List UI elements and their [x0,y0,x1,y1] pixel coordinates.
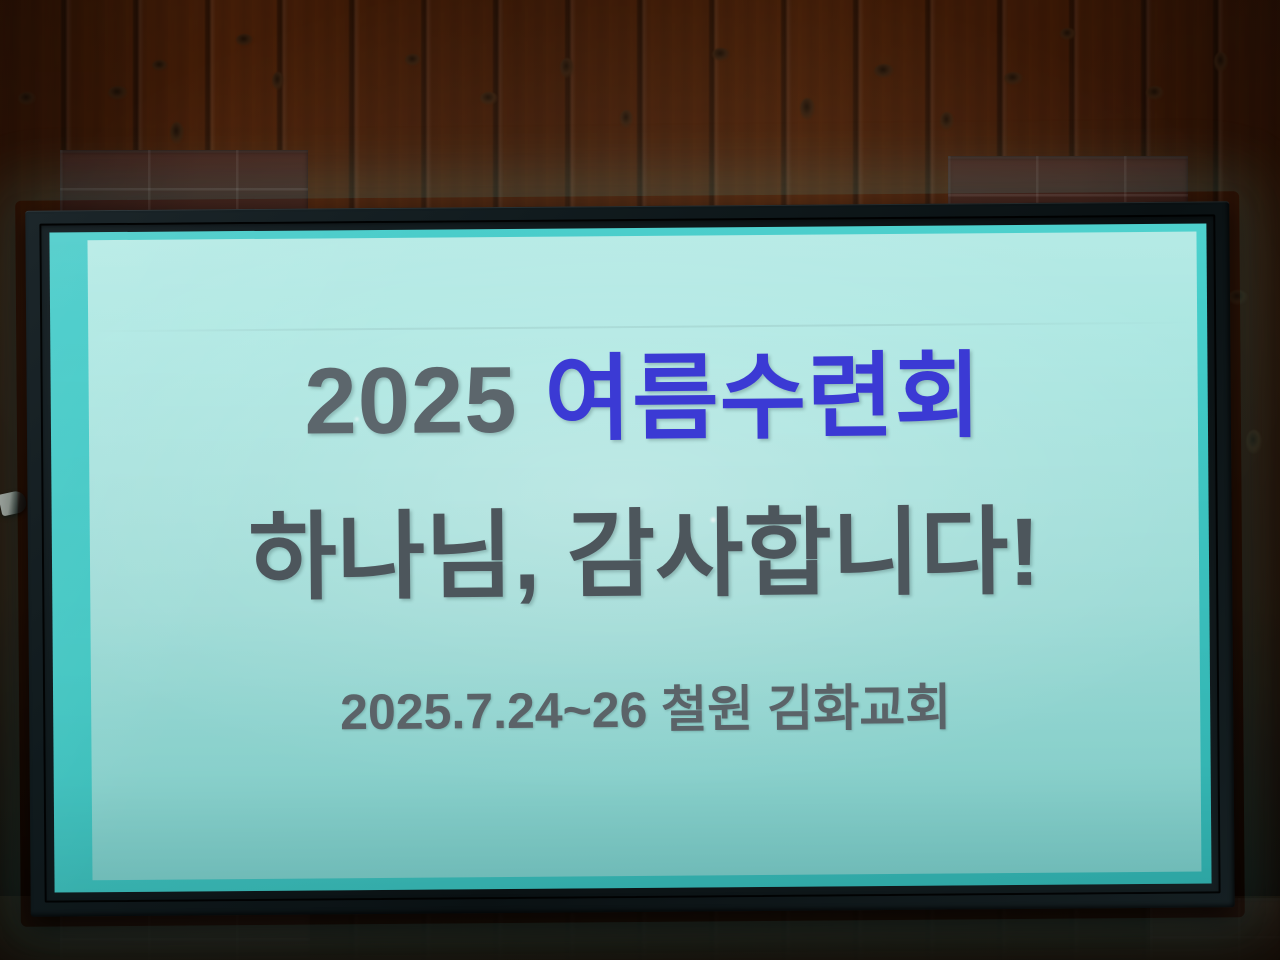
slide-title-event: 여름수련회 [544,343,982,451]
slide-date-location: 2025.7.24~26 철원 김화교회 [340,667,952,744]
wood-knot [405,54,421,66]
wood-knot [108,86,128,100]
wood-knot [152,60,168,71]
wood-knot [1228,290,1248,305]
wood-knot [800,98,815,120]
screen-surface: 2025 여름수련회 하나님, 감사합니다! 2025.7.24~26 철원 김… [49,223,1211,892]
wood-knot [480,92,498,105]
photo-scene: 2025 여름수련회 하나님, 감사합니다! 2025.7.24~26 철원 김… [0,0,1280,960]
slide-subtitle: 하나님, 감사합니다! [248,505,1041,607]
wood-knot [874,64,894,78]
wood-knot [1214,52,1228,72]
wood-knot [1060,28,1076,40]
wood-knot [712,48,730,61]
wood-knot [18,92,36,105]
wood-knot [940,112,954,130]
presentation-slide: 2025 여름수련회 하나님, 감사합니다! 2025.7.24~26 철원 김… [87,232,1201,881]
wood-knot [170,122,184,144]
wood-knot [1004,72,1023,85]
wood-knot [272,72,284,90]
projection-screen[interactable]: 2025 여름수련회 하나님, 감사합니다! 2025.7.24~26 철원 김… [25,201,1235,916]
wood-knot [620,110,633,128]
wood-knot [1246,430,1262,454]
slide-title: 2025 여름수련회 [304,349,982,448]
slide-title-year: 2025 [304,347,518,454]
slide-content: 2025 여름수련회 하나님, 감사합니다! 2025.7.24~26 철원 김… [87,232,1200,747]
wood-knot [560,58,574,78]
wood-knot [236,34,253,46]
wood-knot [1146,86,1164,100]
